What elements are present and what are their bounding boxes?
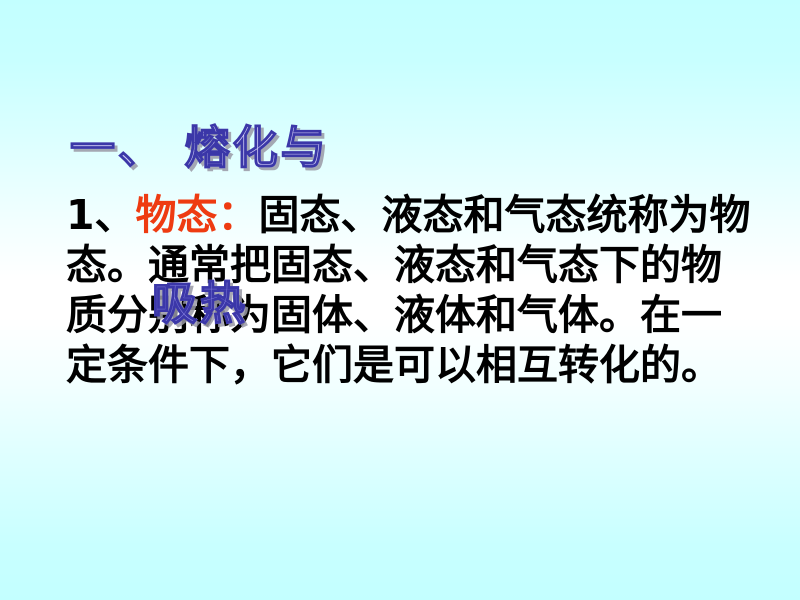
title-line-2: 吸热 — [70, 278, 730, 330]
title-line-1: 一、 熔化与 — [70, 122, 730, 174]
presentation-slide: 一、 熔化与 吸热 一、 熔化与 吸热 1、物态：固态、液态和气态统称为物态。通… — [0, 0, 800, 600]
title-text: 一、 熔化与 吸热 — [70, 18, 730, 434]
slide-title: 一、 熔化与 吸热 一、 熔化与 吸热 — [70, 18, 730, 138]
